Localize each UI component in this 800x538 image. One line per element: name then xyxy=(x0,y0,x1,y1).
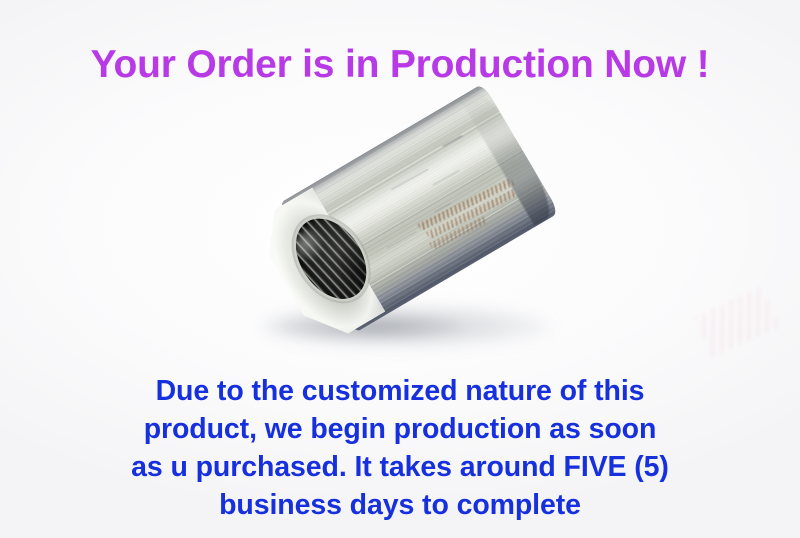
notice-text: Due to the customized nature of this pro… xyxy=(0,372,800,524)
watermark-smudge xyxy=(694,287,779,357)
notice-line: as u purchased. It takes around FIVE (5) xyxy=(0,448,800,486)
notice-banner: Your Order is in Production Now ! xyxy=(0,0,800,538)
notice-line: product, we begin production as soon xyxy=(0,410,800,448)
product-photo-coupling-nut xyxy=(252,108,592,370)
notice-line: Due to the customized nature of this xyxy=(0,372,800,410)
page-title: Your Order is in Production Now ! xyxy=(0,43,800,87)
notice-line: business days to complete xyxy=(0,486,800,524)
